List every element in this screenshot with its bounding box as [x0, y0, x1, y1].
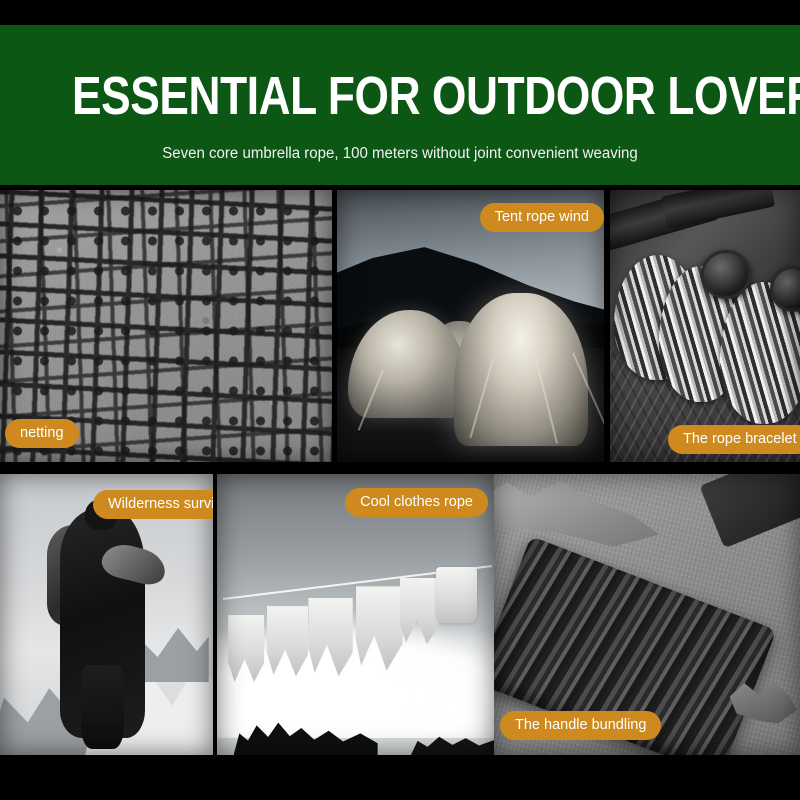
photo-wilderness-survival[interactable]: Wilderness survival	[0, 474, 213, 755]
bottom-black-band	[0, 755, 800, 800]
watch-face-1	[701, 250, 750, 299]
photo-tent-rope-wind[interactable]: Tent rope wind	[337, 190, 604, 462]
badge-wilderness-survival[interactable]: Wilderness survival	[93, 490, 213, 519]
photo-netting[interactable]: netting	[0, 190, 332, 462]
badge-netting[interactable]: netting	[5, 419, 79, 448]
top-black-band	[0, 0, 800, 25]
bracelet-image	[610, 190, 800, 462]
photo-rope-bracelet[interactable]: The rope bracelet	[610, 190, 800, 462]
badge-handle-bundling[interactable]: The handle bundling	[500, 711, 661, 740]
poster-header: ESSENTIAL FOR OUTDOOR LOVERS Seven core …	[0, 25, 800, 185]
photo-cool-clothes-rope[interactable]: Cool clothes rope	[217, 474, 494, 755]
poster-subtitle: Seven core umbrella rope, 100 meters wit…	[12, 144, 788, 164]
garment-6	[436, 567, 478, 623]
climber-leg	[81, 665, 124, 749]
poster-headline: ESSENTIAL FOR OUTDOOR LOVERS	[72, 69, 728, 123]
product-poster: ESSENTIAL FOR OUTDOOR LOVERS Seven core …	[0, 0, 800, 800]
photo-handle-bundling[interactable]: The handle bundling	[494, 474, 800, 755]
badge-tent-rope-wind[interactable]: Tent rope wind	[480, 203, 604, 232]
badge-cool-clothes-rope[interactable]: Cool clothes rope	[345, 488, 488, 517]
badge-rope-bracelet[interactable]: The rope bracelet	[668, 425, 800, 454]
